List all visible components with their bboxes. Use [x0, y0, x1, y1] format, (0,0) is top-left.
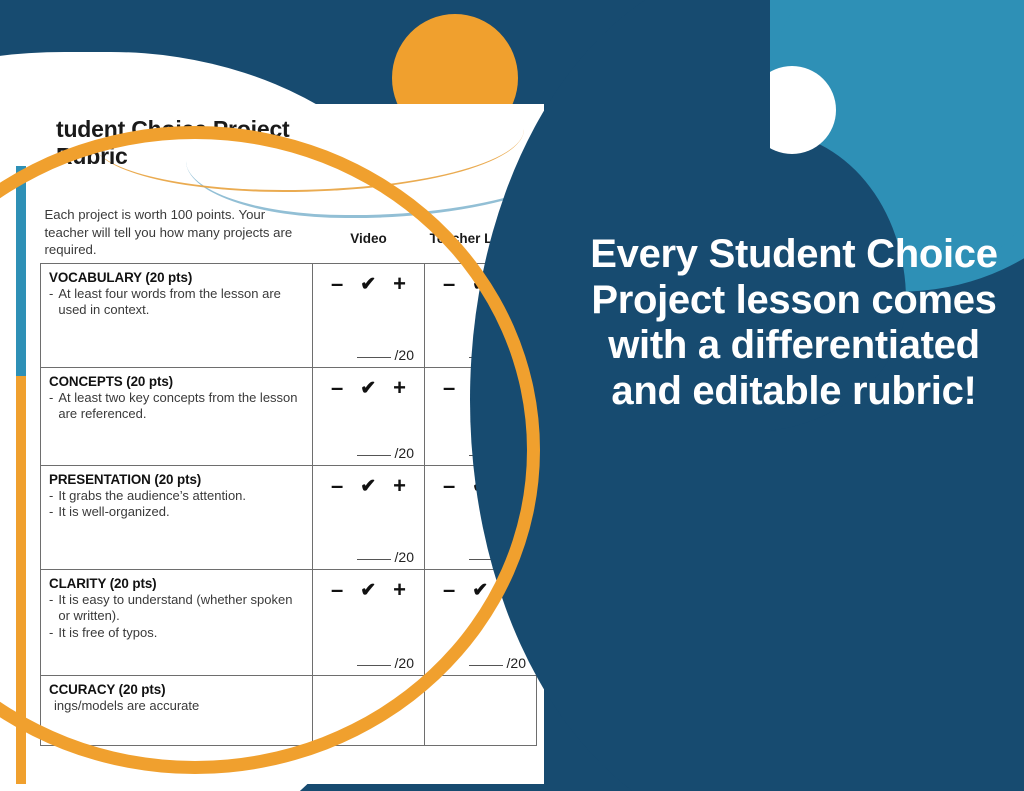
criterion-cell-accuracy: CCURACY (20 pts) ings/models are accurat…	[41, 676, 313, 746]
score-write-line[interactable]	[357, 357, 391, 358]
score-write-line[interactable]	[357, 665, 391, 666]
criterion-cell-concepts: CONCEPTS (20 pts) - At least two key con…	[41, 368, 313, 466]
score-write-line[interactable]	[357, 455, 391, 456]
rating-minus-icon[interactable]: –	[443, 475, 455, 497]
rating-plus-icon[interactable]: +	[393, 579, 406, 601]
rubric-document: tudent Choice Project Rubric Each projec…	[16, 104, 544, 784]
score-blank[interactable]: /20	[469, 655, 526, 671]
rating-minus-icon[interactable]: –	[443, 377, 455, 399]
score-write-line[interactable]	[469, 665, 503, 666]
bullet-text: It is easy to understand (whether spoken…	[58, 592, 306, 625]
rating-plus-icon[interactable]: +	[393, 377, 406, 399]
score-cell-video[interactable]: – ✔ + /20	[313, 368, 425, 466]
rubric-table: Each project is worth 100 points. Your t…	[40, 200, 537, 746]
rating-minus-icon[interactable]: –	[443, 579, 455, 601]
table-row: CLARITY (20 pts) - It is easy to underst…	[41, 570, 537, 676]
bullet-text: ings/models are accurate	[54, 698, 306, 714]
criterion-title: VOCABULARY (20 pts)	[49, 270, 306, 285]
criterion-bullet: - It is free of typos.	[49, 625, 306, 641]
criterion-title: CCURACY (20 pts)	[49, 682, 306, 697]
score-total-label: /20	[395, 445, 414, 461]
rating-minus-icon[interactable]: –	[331, 475, 343, 497]
criterion-title: PRESENTATION (20 pts)	[49, 472, 306, 487]
score-total-label: /20	[395, 549, 414, 565]
score-total-label: /20	[395, 347, 414, 363]
criterion-bullet: - It grabs the audience’s attention.	[49, 488, 306, 504]
bullet-dash: -	[49, 390, 53, 423]
rating-plus-icon[interactable]: +	[393, 475, 406, 497]
table-row: CONCEPTS (20 pts) - At least two key con…	[41, 368, 537, 466]
rating-marks[interactable]: – ✔ +	[313, 368, 424, 399]
table-header-row: Each project is worth 100 points. Your t…	[41, 200, 537, 264]
table-row: CCURACY (20 pts) ings/models are accurat…	[41, 676, 537, 746]
bullet-text: At least four words from the lesson are …	[58, 286, 306, 319]
rating-marks[interactable]: – ✔ +	[313, 264, 424, 295]
rating-check-icon[interactable]: ✔	[472, 581, 488, 600]
score-total-label: /20	[395, 655, 414, 671]
criterion-bullet: - At least two key concepts from the les…	[49, 390, 306, 423]
bullet-dash: -	[49, 592, 53, 625]
headline-text: Every Student Choice Project lesson come…	[584, 232, 1004, 414]
table-row: VOCABULARY (20 pts) - At least four word…	[41, 264, 537, 368]
score-blank[interactable]: /20	[357, 549, 414, 565]
rubric-intro-text: Each project is worth 100 points. Your t…	[41, 200, 313, 264]
criterion-cell-presentation: PRESENTATION (20 pts) - It grabs the aud…	[41, 466, 313, 570]
rating-check-icon[interactable]: ✔	[360, 379, 376, 398]
rating-minus-icon[interactable]: –	[331, 579, 343, 601]
rating-plus-icon[interactable]: +	[393, 273, 406, 295]
document-header: tudent Choice Project Rubric	[16, 104, 544, 200]
rating-check-icon[interactable]: ✔	[360, 581, 376, 600]
bullet-text: At least two key concepts from the lesso…	[58, 390, 306, 423]
criterion-cell-clarity: CLARITY (20 pts) - It is easy to underst…	[41, 570, 313, 676]
rating-check-icon[interactable]: ✔	[360, 477, 376, 496]
score-cell-video[interactable]	[313, 676, 425, 746]
rating-check-icon[interactable]: ✔	[360, 275, 376, 294]
criterion-bullet: - It is easy to understand (whether spok…	[49, 592, 306, 625]
bullet-dash: -	[49, 286, 53, 319]
criterion-title: CLARITY (20 pts)	[49, 576, 306, 591]
criterion-bullet: - It is well-organized.	[49, 504, 306, 520]
criterion-cell-vocabulary: VOCABULARY (20 pts) - At least four word…	[41, 264, 313, 368]
bullet-text: It is free of typos.	[58, 625, 306, 641]
score-cell-video[interactable]: – ✔ + /20	[313, 466, 425, 570]
criterion-bullet: - At least four words from the lesson ar…	[49, 286, 306, 319]
score-cell-teacher-lesson[interactable]	[425, 676, 537, 746]
score-blank[interactable]: /20	[357, 655, 414, 671]
table-row: PRESENTATION (20 pts) - It grabs the aud…	[41, 466, 537, 570]
document-title: tudent Choice Project Rubric	[56, 116, 356, 170]
score-total-label: /20	[507, 655, 526, 671]
criterion-bullet: ings/models are accurate	[49, 698, 306, 714]
criterion-title: CONCEPTS (20 pts)	[49, 374, 306, 389]
bullet-dash: -	[49, 625, 53, 641]
rating-marks[interactable]: – ✔ +	[313, 466, 424, 497]
bullet-dash: -	[49, 488, 53, 504]
score-blank[interactable]: /20	[357, 445, 414, 461]
score-cell-video[interactable]: – ✔ + /20	[313, 264, 425, 368]
bullet-text: It is well-organized.	[58, 504, 306, 520]
score-write-line[interactable]	[357, 559, 391, 560]
score-cell-video[interactable]: – ✔ + /20	[313, 570, 425, 676]
rating-marks[interactable]: – ✔ +	[313, 570, 424, 601]
rating-minus-icon[interactable]: –	[331, 273, 343, 295]
column-header-video: Video	[313, 200, 425, 264]
document-accent-bar-orange	[16, 376, 26, 784]
bullet-dash: -	[49, 504, 53, 520]
rating-minus-icon[interactable]: –	[331, 377, 343, 399]
slide-canvas: tudent Choice Project Rubric Each projec…	[0, 0, 1024, 791]
score-blank[interactable]: /20	[357, 347, 414, 363]
rating-minus-icon[interactable]: –	[443, 273, 455, 295]
bullet-text: It grabs the audience’s attention.	[58, 488, 306, 504]
